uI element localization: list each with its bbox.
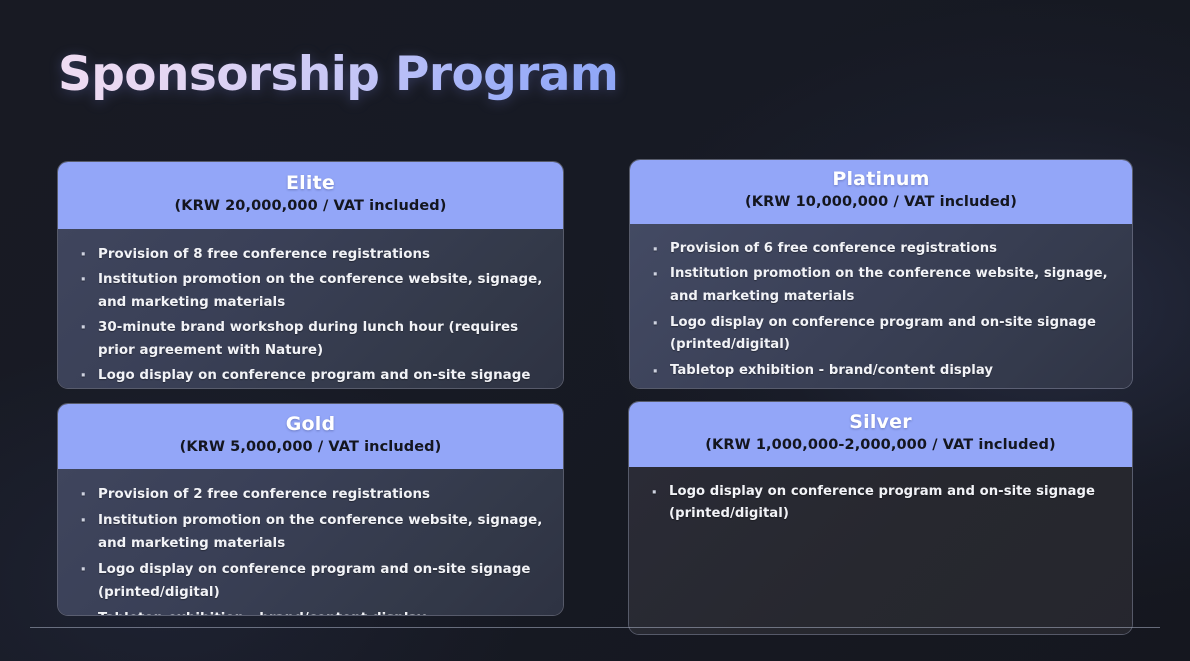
list-item: Tabletop exhibition - brand/content disp… — [644, 360, 1114, 383]
tier-header-gold: Gold (KRW 5,000,000 / VAT included) — [58, 404, 563, 469]
tier-card-elite[interactable]: Elite (KRW 20,000,000 / VAT included) Pr… — [57, 161, 564, 389]
benefit-list: Logo display on conference program and o… — [643, 481, 1114, 526]
tier-price: (KRW 1,000,000-2,000,000 / VAT included) — [643, 435, 1118, 457]
slide-canvas: Sponsorship Program Elite (KRW 20,000,00… — [0, 0, 1190, 661]
tier-header-elite: Elite (KRW 20,000,000 / VAT included) — [58, 162, 563, 229]
tier-card-platinum[interactable]: Platinum (KRW 10,000,000 / VAT included)… — [629, 159, 1133, 389]
tier-body-platinum: Provision of 6 free conference registrat… — [630, 224, 1132, 390]
tier-name: Platinum — [644, 168, 1118, 192]
list-item: Logo display on conference program and o… — [72, 558, 545, 604]
tier-body-elite: Provision of 8 free conference registrat… — [58, 229, 563, 390]
benefit-list: Provision of 2 free conference registrat… — [72, 483, 545, 617]
tier-name: Elite — [72, 172, 549, 196]
tier-name: Silver — [643, 411, 1118, 435]
list-item: Logo display on conference program and o… — [644, 312, 1114, 357]
page-title: Sponsorship Program — [58, 47, 618, 102]
tier-name: Gold — [72, 413, 549, 437]
footer-divider — [30, 627, 1160, 628]
benefit-list: Provision of 6 free conference registrat… — [644, 238, 1114, 383]
tier-price: (KRW 20,000,000 / VAT included) — [72, 196, 549, 218]
tier-header-silver: Silver (KRW 1,000,000-2,000,000 / VAT in… — [629, 402, 1132, 467]
list-item: Provision of 2 free conference registrat… — [72, 483, 545, 506]
list-item: Logo display on conference program and o… — [643, 481, 1114, 526]
list-item: Institution promotion on the conference … — [72, 509, 545, 555]
tier-card-gold[interactable]: Gold (KRW 5,000,000 / VAT included) Prov… — [57, 403, 564, 616]
list-item: Provision of 8 free conference registrat… — [72, 243, 545, 266]
list-item: Provision of 6 free conference registrat… — [644, 238, 1114, 261]
list-item: Institution promotion on the conference … — [644, 263, 1114, 308]
benefit-list: Provision of 8 free conference registrat… — [72, 243, 545, 390]
tier-price: (KRW 5,000,000 / VAT included) — [72, 437, 549, 459]
list-item: 30-minute brand workshop during lunch ho… — [72, 316, 545, 362]
tier-header-platinum: Platinum (KRW 10,000,000 / VAT included) — [630, 160, 1132, 224]
list-item: Logo display on conference program and o… — [72, 364, 545, 389]
tier-body-gold: Provision of 2 free conference registrat… — [58, 469, 563, 617]
tier-card-silver[interactable]: Silver (KRW 1,000,000-2,000,000 / VAT in… — [628, 401, 1133, 635]
list-item: Tabletop exhibition - brand/content disp… — [72, 607, 545, 616]
tier-price: (KRW 10,000,000 / VAT included) — [644, 192, 1118, 214]
list-item: Institution promotion on the conference … — [72, 268, 545, 314]
tier-body-silver: Logo display on conference program and o… — [629, 467, 1132, 636]
